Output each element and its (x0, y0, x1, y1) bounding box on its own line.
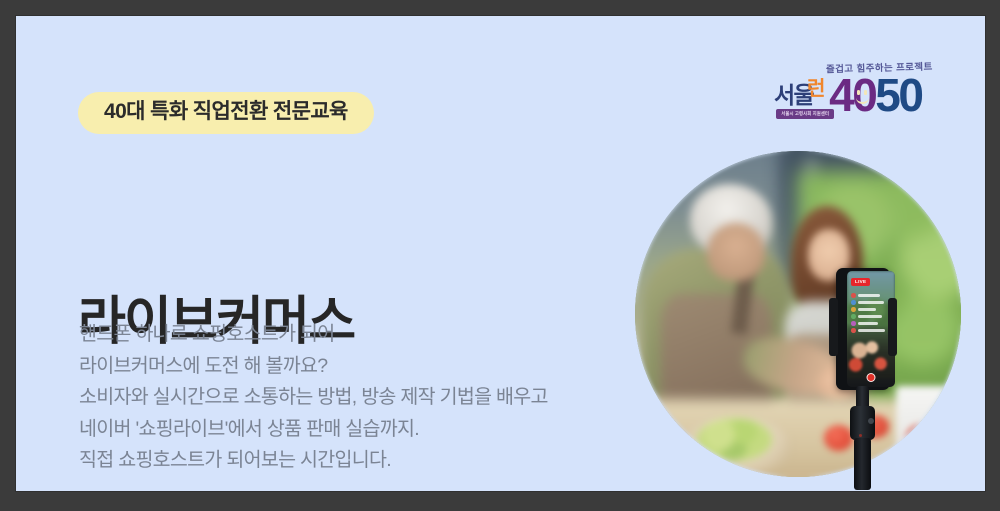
photo-cup-berries (906, 425, 942, 461)
logo-number-50: 50 (875, 74, 921, 116)
course-description: 핸드폰 하나로 쇼핑호스트가 되어 라이브커머스에 도전 해 볼까요? 소비자와… (79, 319, 548, 477)
chat-text (858, 315, 882, 318)
chat-text (858, 308, 876, 311)
description-line-4: 네이버 '쇼핑라이브'에서 상품 판매 실습까지. (79, 414, 548, 446)
phone-clamp-right (888, 298, 897, 356)
chat-avatar-icon (851, 293, 856, 298)
tripod-leg (854, 438, 871, 490)
description-line-2: 라이브커머스에 도전 해 볼까요? (79, 351, 548, 383)
chat-avatar-icon (851, 314, 856, 319)
description-line-3: 소비자와 실시간으로 소통하는 방법, 방송 제작 기법을 배우고 (79, 382, 548, 414)
description-line-1: 핸드폰 하나로 쇼핑호스트가 되어 (79, 319, 548, 351)
logo-wordmark: 서울 런 서울시 고령사회 지원센터 (774, 84, 813, 116)
seoul-learn-4050-logo: 즐겁고 힘주하는 프로젝트 서울 런 서울시 고령사회 지원센터 40 50 (774, 60, 964, 132)
smiley-face-icon (854, 90, 872, 104)
photo-man-face (707, 223, 766, 282)
smartphone: LIVE (836, 268, 890, 390)
stream-chat-list (851, 293, 885, 335)
chat-avatar-icon (851, 307, 856, 312)
smiley-eye-left (857, 90, 860, 95)
chat-row (851, 328, 885, 333)
chat-row (851, 293, 885, 298)
record-button-icon (867, 373, 876, 382)
logo-subbar-text: 서울시 고령사회 지원센터 (781, 111, 829, 117)
logo-run-text: 런 (807, 79, 824, 99)
description-line-5: 직접 쇼핑호스트가 되어보는 시간입니다. (79, 445, 548, 477)
phone-tripod-rig: LIVE (828, 268, 898, 488)
logo-subbar: 서울시 고령사회 지원센터 (776, 109, 834, 119)
chat-row (851, 300, 885, 305)
photo-salad (697, 418, 772, 460)
chat-avatar-icon (851, 300, 856, 305)
chat-text (858, 294, 880, 297)
chat-text (858, 322, 878, 325)
chat-row (851, 314, 885, 319)
chat-row (851, 321, 885, 326)
chat-avatar-icon (851, 328, 856, 333)
screenshot-frame: 40대 특화 직업전환 전문교육 라이브커머스 도전하기 핸드폰 하나로 쇼핑호… (0, 0, 1000, 511)
smiley-mouth (856, 95, 869, 104)
tripod-indicator-icon (859, 434, 862, 437)
headline-line-2: 도전하기 (78, 489, 354, 491)
logo-lockup: 서울 런 서울시 고령사회 지원센터 40 50 (774, 74, 921, 116)
course-category-badge: 40대 특화 직업전환 전문교육 (78, 92, 374, 134)
smiley-eye-right (864, 90, 867, 95)
hero-photo (635, 151, 961, 477)
logo-number-40: 40 (829, 74, 875, 116)
chat-row (851, 307, 885, 312)
chat-text (858, 329, 885, 332)
photo-tomato (648, 418, 671, 438)
phone-clamp-left (829, 298, 838, 356)
tripod-knob-icon (868, 418, 874, 424)
chat-text (858, 301, 884, 304)
promo-banner: 40대 특화 직업전환 전문교육 라이브커머스 도전하기 핸드폰 하나로 쇼핑호… (16, 16, 985, 491)
chat-avatar-icon (851, 321, 856, 326)
live-badge: LIVE (851, 278, 870, 286)
